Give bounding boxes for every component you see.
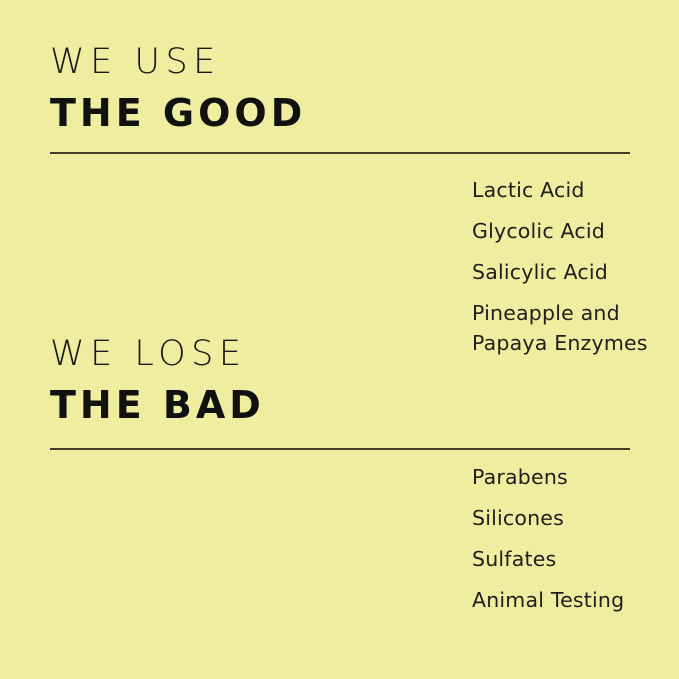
section-good: WE USE THE GOOD Lactic Acid Glycolic Aci… xyxy=(0,40,679,136)
list-item: Glycolic Acid xyxy=(472,216,672,246)
divider-bad xyxy=(50,448,630,450)
list-item: Lactic Acid xyxy=(472,175,672,205)
heading-block-bad: WE LOSE THE BAD xyxy=(0,332,679,428)
eyebrow-we-lose: WE LOSE xyxy=(50,332,679,376)
title-the-good: THE GOOD xyxy=(50,90,679,136)
list-item: Parabens xyxy=(472,462,672,492)
list-item: Sulfates xyxy=(472,544,672,574)
title-the-bad: THE BAD xyxy=(50,382,679,428)
marketing-poster: WE USE THE GOOD Lactic Acid Glycolic Aci… xyxy=(0,0,679,679)
divider-good xyxy=(50,152,630,154)
list-item: Silicones xyxy=(472,503,672,533)
ingredient-list-bad: Parabens Silicones Sulfates Animal Testi… xyxy=(472,462,672,626)
heading-block-good: WE USE THE GOOD xyxy=(0,40,679,136)
eyebrow-we-use: WE USE xyxy=(50,40,679,84)
ingredient-list-good: Lactic Acid Glycolic Acid Salicylic Acid… xyxy=(472,175,672,358)
list-item: Salicylic Acid xyxy=(472,257,672,287)
section-bad: WE LOSE THE BAD Parabens Silicones Sulfa… xyxy=(0,332,679,428)
list-item: Animal Testing xyxy=(472,585,672,615)
